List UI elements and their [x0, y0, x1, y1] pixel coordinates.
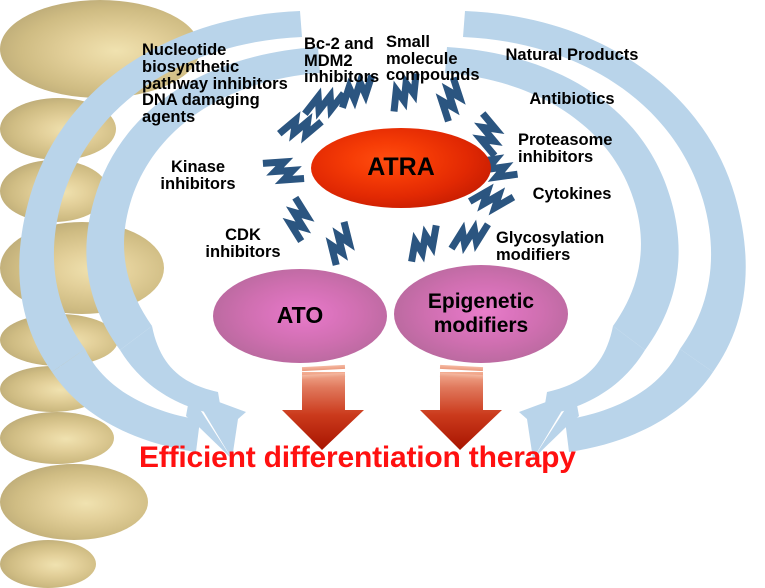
zigzag-connector-icon: [412, 226, 435, 262]
node-atra-label: ATRA: [367, 155, 435, 181]
figure-bottom-title: Efficient differentiation therapy: [139, 441, 576, 475]
node-proteasome-label: Proteasome inhibitors: [518, 124, 642, 174]
down-arrow-left: [282, 365, 364, 450]
node-glycosylation-label: Glycosylation modifiers: [496, 223, 622, 271]
node-ato[interactable]: ATO: [213, 269, 387, 363]
node-epigenetic[interactable]: Epigenetic modifiers: [394, 265, 568, 363]
node-cdk[interactable]: [0, 540, 96, 588]
node-epigenetic-label: Epigenetic modifiers: [428, 290, 534, 338]
node-kinase-label: Kinase inhibitors: [124, 154, 272, 198]
node-cytokines-label: Cytokines: [520, 180, 624, 208]
zigzag-connector-icon: [453, 218, 486, 256]
node-ato-label: ATO: [277, 304, 323, 327]
node-natural-products-label: Natural Products Antibiotics: [492, 42, 652, 112]
node-atra[interactable]: ATRA: [311, 128, 491, 208]
figure-canvas: Nucleotide biosynthetic pathway inhibito…: [0, 0, 765, 487]
node-cdk-label: CDK inhibitors: [188, 222, 298, 266]
down-arrow-right: [420, 365, 502, 450]
zigzag-connector-icon: [327, 225, 352, 261]
